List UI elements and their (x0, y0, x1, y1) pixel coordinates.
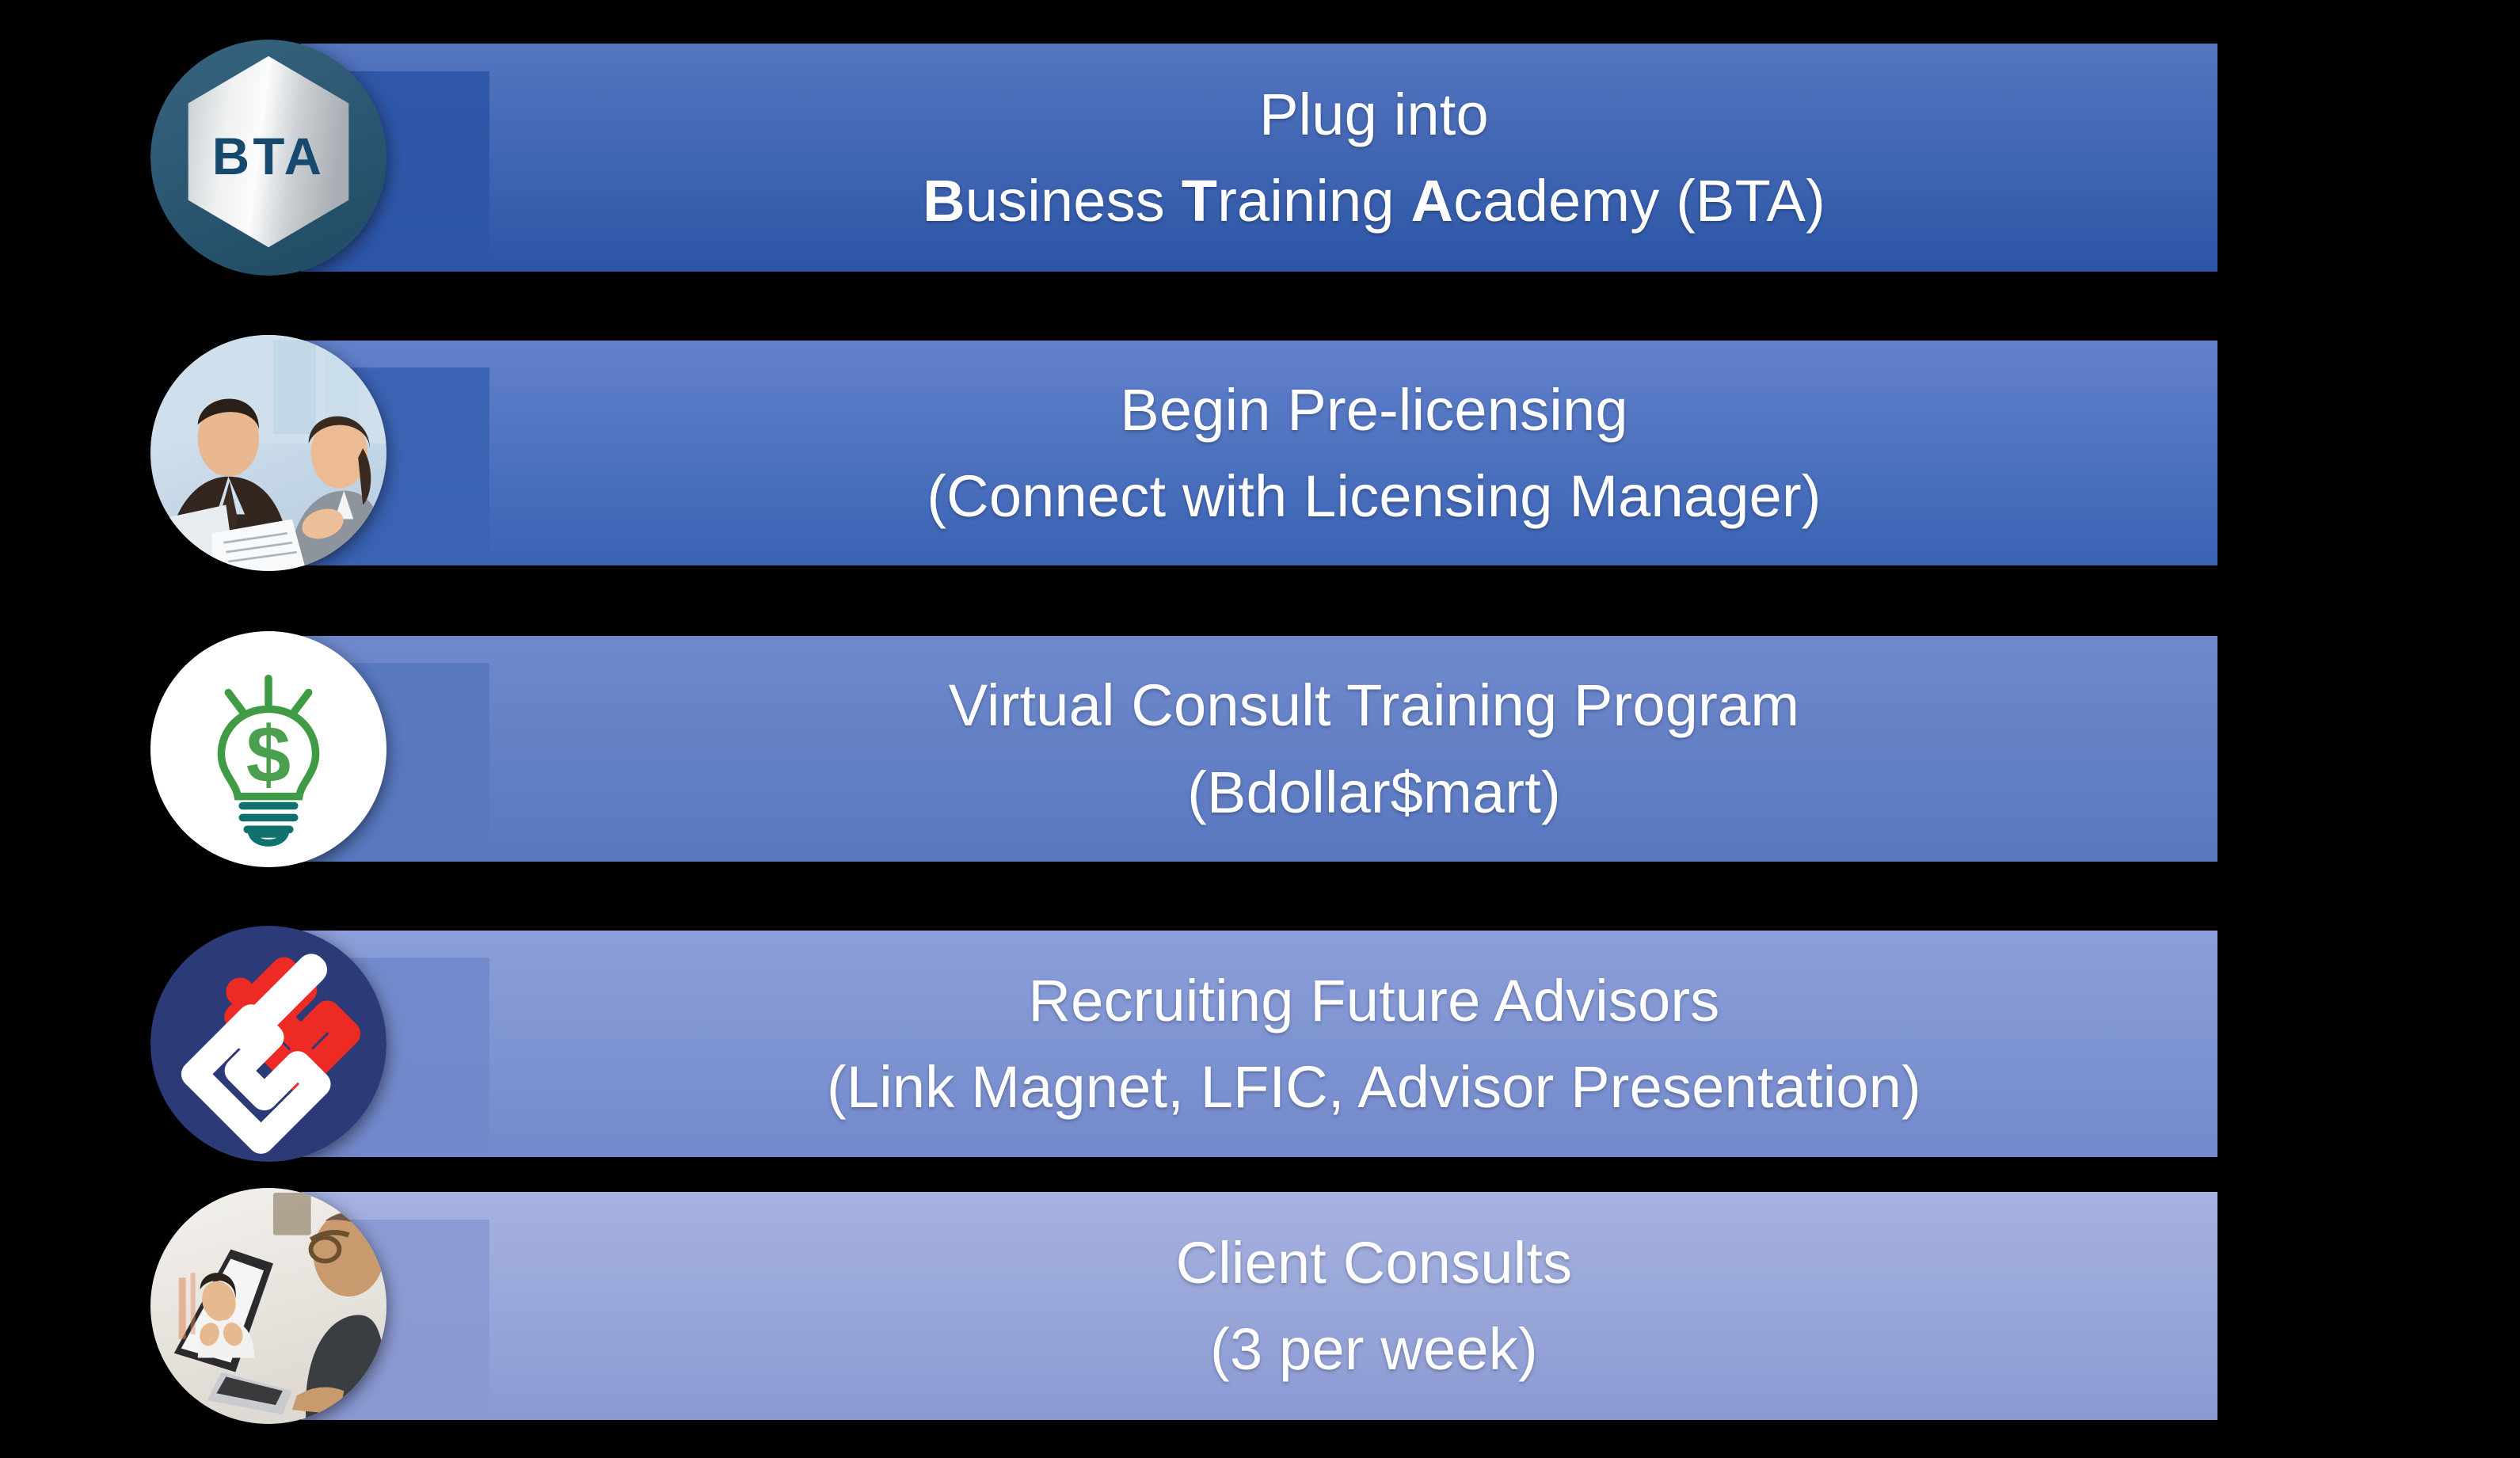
row-text: Plug into Business Training Academy (BTA… (562, 44, 2186, 272)
row-line-2: (Bdollar$mart) (1187, 758, 1561, 827)
link-magnet-icon[interactable] (150, 926, 386, 1162)
row-text: Virtual Consult Training Program (Bdolla… (562, 636, 2186, 862)
video-call-photo-glyph (150, 1188, 386, 1424)
svg-text:$: $ (246, 710, 291, 799)
business-meeting-photo-glyph (150, 335, 386, 571)
row-line-2: (Connect with Licensing Manager) (927, 462, 1821, 531)
business-meeting-photo-icon[interactable] (150, 335, 386, 571)
process-row-recruiting[interactable]: Recruiting Future Advisors (Link Magnet,… (301, 931, 2217, 1157)
row-line-1: Plug into (1259, 80, 1489, 149)
row-text: Recruiting Future Advisors (Link Magnet,… (562, 931, 2186, 1157)
row-line-2: (Link Magnet, LFIC, Advisor Presentation… (827, 1053, 1921, 1121)
video-call-photo-icon[interactable] (150, 1188, 386, 1424)
dollar-lightbulb-glyph: $ (150, 631, 386, 867)
row-line-1: Begin Pre-licensing (1120, 375, 1627, 444)
bta-logo-icon[interactable]: BTA (150, 40, 386, 276)
diagram-canvas: BTA Plug into Business Training Academy … (0, 0, 2520, 1458)
link-magnet-glyph (150, 926, 386, 1162)
process-row-pre-licensing[interactable]: Begin Pre-licensing (Connect with Licens… (301, 341, 2217, 565)
process-row-client-consults[interactable]: Client Consults (3 per week) (301, 1192, 2217, 1420)
row-text: Client Consults (3 per week) (562, 1192, 2186, 1420)
process-row-virtual-consult[interactable]: $ Virtual Consult Training Program (Bdol… (301, 636, 2217, 862)
process-row-bta[interactable]: BTA Plug into Business Training Academy … (301, 44, 2217, 272)
row-line-1: Client Consults (1176, 1228, 1573, 1297)
row-text: Begin Pre-licensing (Connect with Licens… (562, 341, 2186, 565)
svg-text:BTA: BTA (212, 128, 325, 185)
row-line-1: Virtual Consult Training Program (949, 671, 1799, 740)
dollar-lightbulb-icon[interactable]: $ (150, 631, 386, 867)
row-line-1: Recruiting Future Advisors (1028, 966, 1719, 1035)
bta-logo-glyph: BTA (150, 40, 386, 276)
row-line-2: (3 per week) (1210, 1315, 1538, 1384)
row-line-2: Business Training Academy (BTA) (923, 166, 1825, 235)
